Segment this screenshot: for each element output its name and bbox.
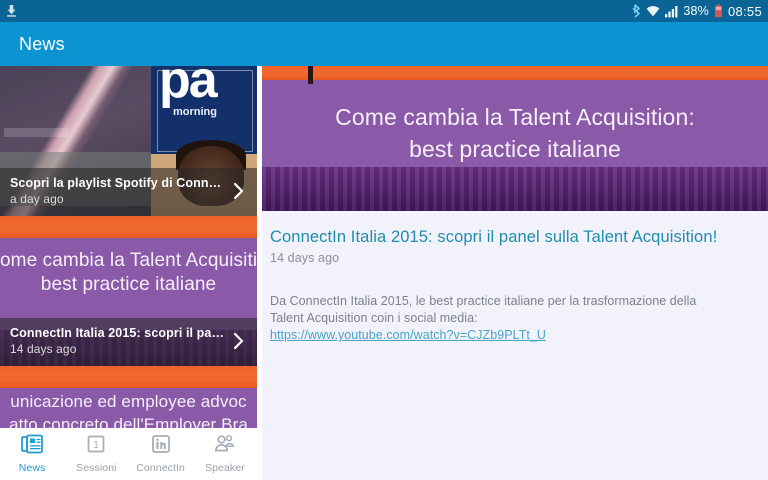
- battery-icon: [714, 4, 723, 18]
- tab-connectin-label: ConnectIn: [136, 462, 185, 474]
- tab-news-label: News: [19, 462, 46, 474]
- calendar-day-icon: 1: [86, 434, 106, 459]
- thumbnail-banner-line1: ome cambia la Talent Acquisitio: [0, 250, 257, 272]
- status-bar-right: 38% 08:55: [632, 4, 762, 19]
- tab-sessioni[interactable]: 1 Sessioni: [64, 428, 128, 480]
- tab-sessioni-label: Sessioni: [76, 462, 117, 474]
- newspaper-icon: [21, 434, 43, 459]
- thumbnail-banner-line1: unicazione ed employee advoc: [0, 392, 257, 412]
- hero-line1: Come cambia la Talent Acquisition:: [262, 104, 768, 131]
- article-title: ConnectIn Italia 2015: scopri il panel s…: [270, 226, 768, 248]
- tab-speaker-label: Speaker: [205, 462, 245, 474]
- list-item-title: ConnectIn Italia 2015: scopri il panel..…: [10, 325, 227, 341]
- download-icon: [5, 4, 18, 18]
- svg-text:1: 1: [94, 440, 100, 451]
- content-area: pa morning Scopri la playlist Spotify di…: [0, 66, 768, 480]
- speakers-group-icon: [214, 434, 236, 459]
- signal-bars-icon: [665, 4, 678, 18]
- status-bar: 38% 08:55: [0, 0, 768, 22]
- chevron-right-icon[interactable]: [227, 332, 249, 350]
- bottom-navigation: News 1 Sessioni: [0, 428, 257, 480]
- linkedin-icon: [151, 434, 171, 459]
- chevron-right-icon[interactable]: [227, 182, 249, 200]
- article-paragraph: Da ConnectIn Italia 2015, le best practi…: [270, 294, 696, 325]
- bluetooth-icon: [632, 4, 641, 18]
- thumbnail-banner-line2: best practice italiane: [0, 274, 257, 296]
- list-item[interactable]: pa morning Scopri la playlist Spotify di…: [0, 66, 257, 216]
- app-screen: 38% 08:55 News: [0, 0, 768, 480]
- wifi-icon: [646, 4, 660, 18]
- hero-line2: best practice italiane: [262, 136, 768, 163]
- list-item-text: ConnectIn Italia 2015: scopri il panel..…: [10, 325, 227, 358]
- tab-speaker[interactable]: Speaker: [193, 428, 257, 480]
- tab-connectin[interactable]: ConnectIn: [129, 428, 193, 480]
- list-item[interactable]: ome cambia la Talent Acquisitio best pra…: [0, 216, 257, 366]
- news-list[interactable]: pa morning Scopri la playlist Spotify di…: [0, 66, 257, 480]
- list-item-overlay[interactable]: ConnectIn Italia 2015: scopri il panel..…: [0, 318, 257, 366]
- article-link[interactable]: https://www.youtube.com/watch?v=CJZb9PLT…: [270, 327, 546, 344]
- list-item-title: Scopri la playlist Spotify di ConnectIn.…: [10, 175, 227, 191]
- article-text: Da ConnectIn Italia 2015, le best practi…: [270, 293, 722, 344]
- article-detail-pane: Come cambia la Talent Acquisition: best …: [262, 66, 768, 480]
- tab-news[interactable]: News: [0, 428, 64, 480]
- article-body: ConnectIn Italia 2015: scopri il panel s…: [262, 211, 768, 344]
- page-title: News: [19, 34, 65, 55]
- status-bar-left: [5, 4, 18, 18]
- list-item-date: 14 days ago: [10, 341, 227, 358]
- list-item-overlay[interactable]: Scopri la playlist Spotify di ConnectIn.…: [0, 168, 257, 216]
- list-item-text: Scopri la playlist Spotify di ConnectIn.…: [10, 175, 227, 208]
- article-hero-image: Come cambia la Talent Acquisition: best …: [262, 66, 768, 211]
- battery-percent: 38%: [683, 4, 709, 18]
- app-bar: News: [0, 22, 768, 66]
- list-item-date: a day ago: [10, 191, 227, 208]
- status-bar-clock: 08:55: [728, 4, 762, 19]
- article-date: 14 days ago: [270, 251, 768, 265]
